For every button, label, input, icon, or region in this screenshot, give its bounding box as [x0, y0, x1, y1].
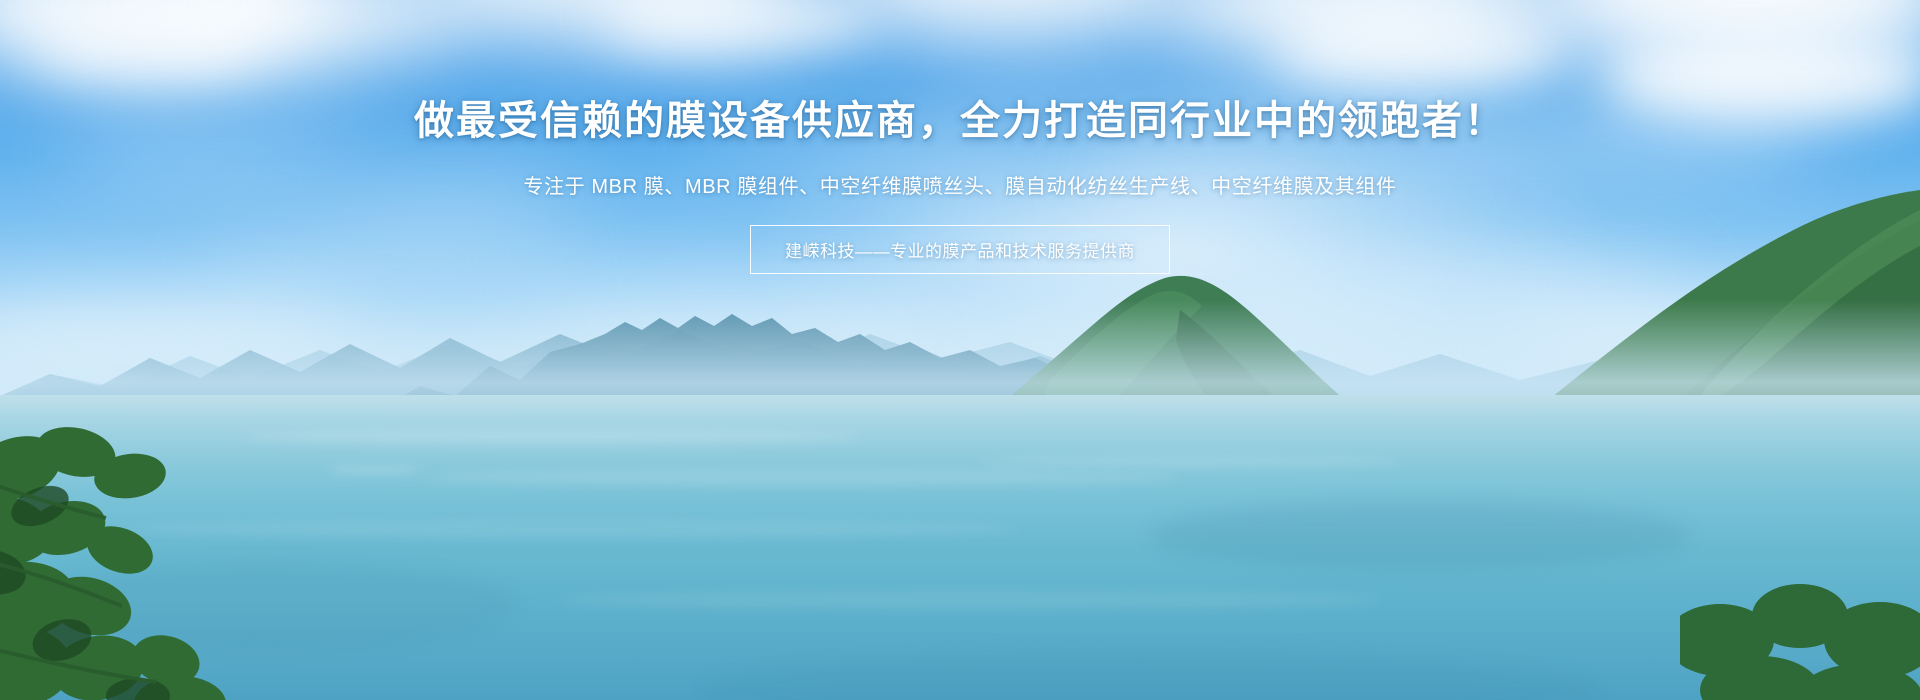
water-shadow	[1150, 500, 1690, 570]
cloud	[200, 235, 580, 283]
banner-headline: 做最受信赖的膜设备供应商，全力打造同行业中的领跑者！	[414, 98, 1506, 144]
hero-banner: 做最受信赖的膜设备供应商，全力打造同行业中的领跑者！ 专注于 MBR 膜、MBR…	[0, 0, 1920, 700]
water-highlight	[420, 470, 1180, 486]
foreground-foliage-right	[1680, 520, 1920, 700]
cloud	[60, 130, 360, 178]
banner-subheadline: 专注于 MBR 膜、MBR 膜组件、中空纤维膜喷丝头、膜自动化纺丝生产线、中空纤…	[523, 170, 1396, 199]
water-highlight	[560, 590, 1380, 610]
cloud	[30, 10, 260, 80]
banner-tagline-box: 建嵘科技——专业的膜产品和技术服务提供商	[750, 225, 1170, 274]
boat-wake	[330, 468, 420, 473]
cloud	[1270, 10, 1570, 90]
water-highlight	[240, 430, 860, 444]
foreground-tree-branch	[0, 410, 310, 700]
water-highlight	[980, 455, 1400, 467]
